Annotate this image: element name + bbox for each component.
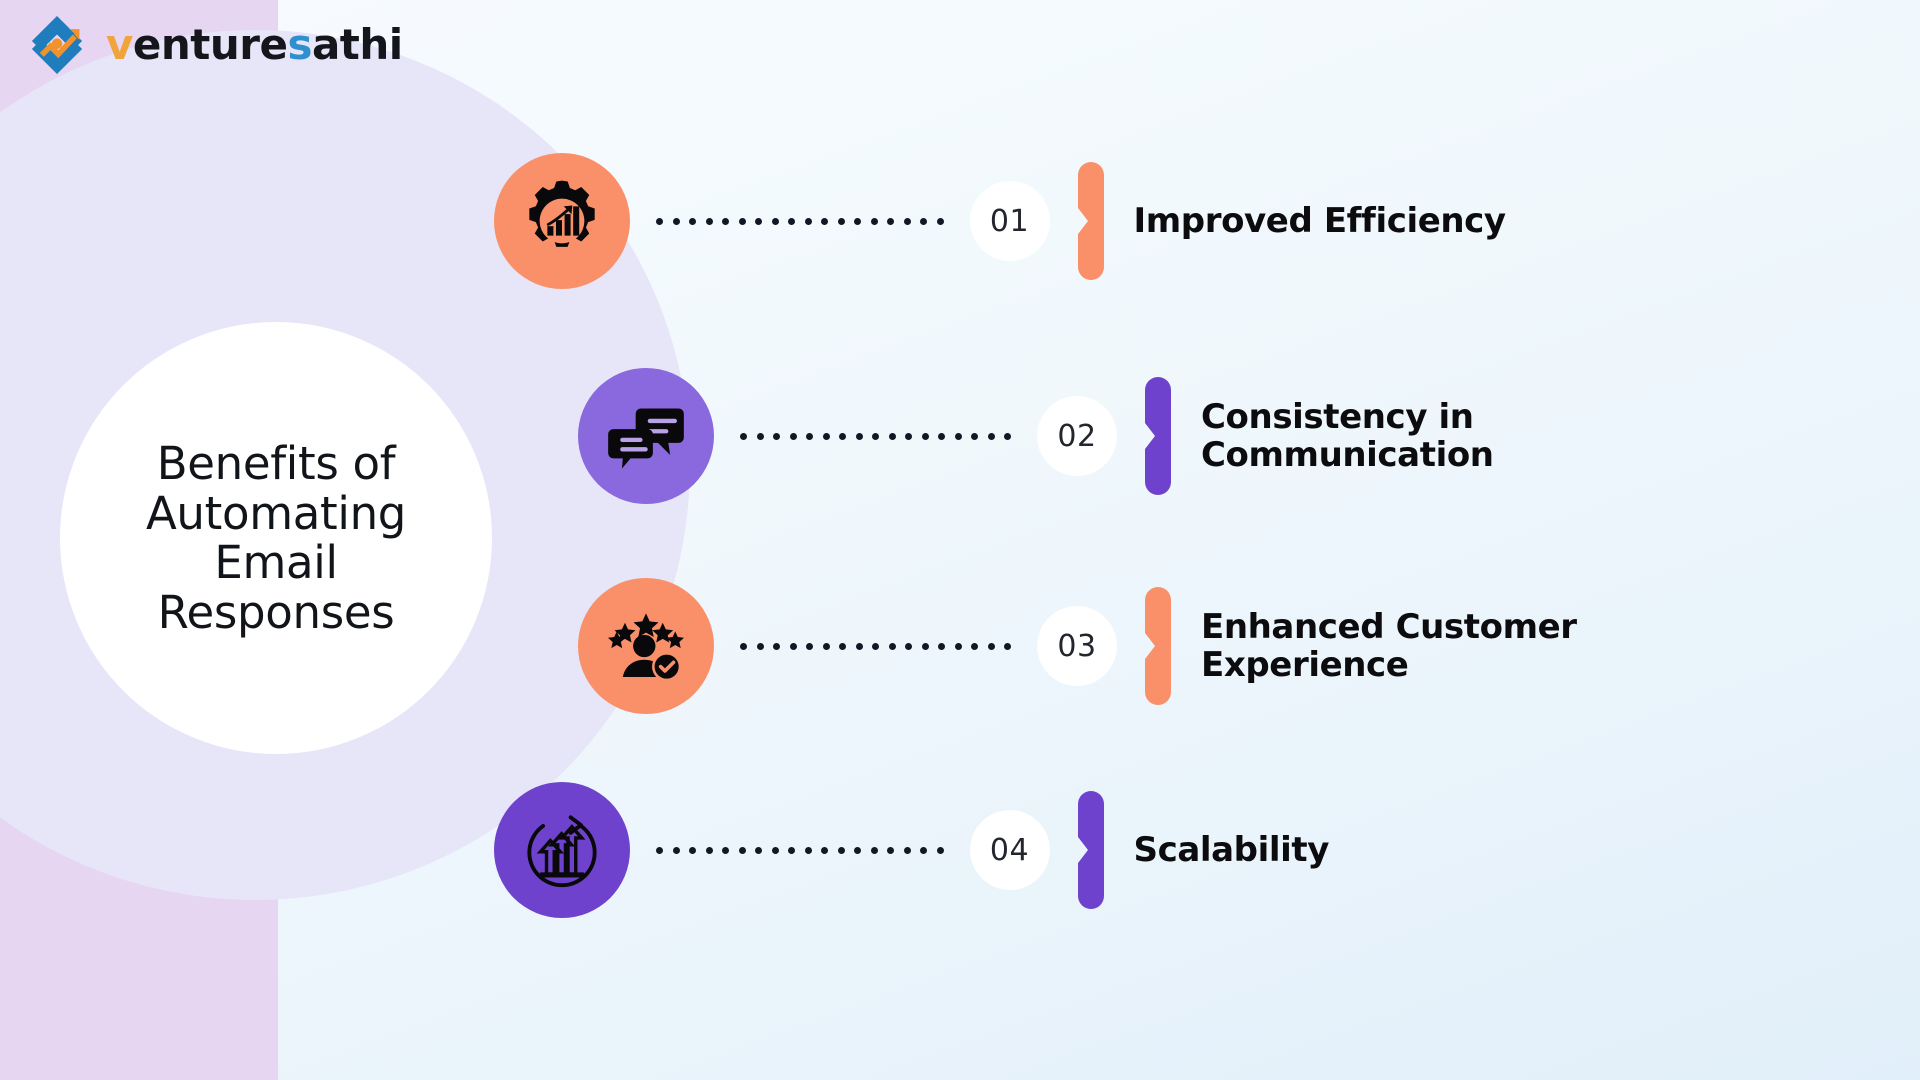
benefit-number-2: 02 <box>1037 396 1117 476</box>
benefit-bar-2 <box>1145 377 1171 495</box>
growth-arrows-refresh-icon <box>519 807 605 893</box>
benefit-bar-3 <box>1145 587 1171 705</box>
benefit-bar-1 <box>1078 162 1104 280</box>
connector-dots-3 <box>740 643 1011 650</box>
brand-logo[interactable]: venturesathi <box>24 12 403 78</box>
brand-wordmark: venturesathi <box>106 24 403 66</box>
gear-bar-chart-growth-icon <box>519 178 605 264</box>
chat-bubbles-icon <box>603 393 689 479</box>
benefit-number-3: 03 <box>1037 606 1117 686</box>
benefit-icon-badge-4 <box>494 782 630 918</box>
infographic-canvas: Benefits of Automating Email Responses v… <box>0 0 1920 1080</box>
connector-dots-2 <box>740 433 1011 440</box>
benefit-number-4: 04 <box>970 810 1050 890</box>
connector-dots-1 <box>656 218 944 225</box>
venturesathi-chevron-arrow-logo-icon <box>24 12 90 78</box>
benefit-icon-badge-2 <box>578 368 714 504</box>
benefit-row-3[interactable]: 03 Enhanced Customer Experience <box>578 566 1577 726</box>
benefits-list: 01 Improved Efficiency <box>0 0 1920 1080</box>
person-five-stars-check-icon <box>603 603 689 689</box>
connector-dots-4 <box>656 847 944 854</box>
benefit-row-1[interactable]: 01 Improved Efficiency <box>494 141 1506 301</box>
benefit-label-3: Enhanced Customer Experience <box>1201 608 1577 684</box>
benefit-row-4[interactable]: 04 Scalability <box>494 770 1329 930</box>
benefit-row-2[interactable]: 02 Consistency in Communication <box>578 356 1494 516</box>
benefit-icon-badge-1 <box>494 153 630 289</box>
benefit-label-2: Consistency in Communication <box>1201 398 1494 474</box>
benefit-number-1: 01 <box>970 181 1050 261</box>
benefit-label-4: Scalability <box>1134 831 1330 869</box>
benefit-icon-badge-3 <box>578 578 714 714</box>
benefit-bar-4 <box>1078 791 1104 909</box>
benefit-label-1: Improved Efficiency <box>1134 202 1506 240</box>
